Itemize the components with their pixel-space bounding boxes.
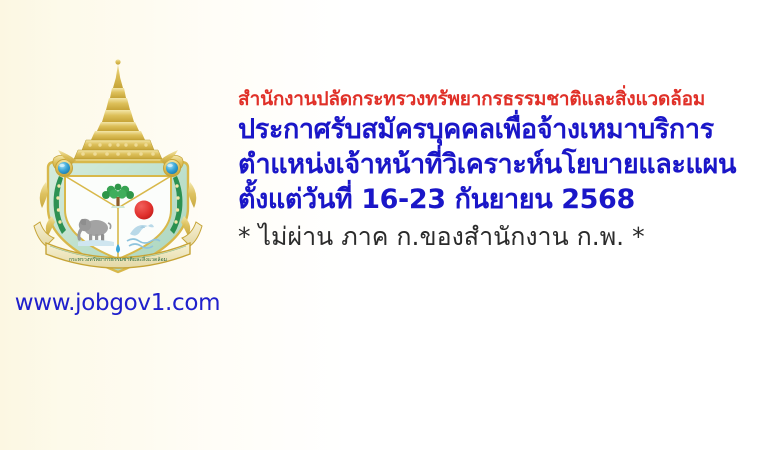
announcement-poster: กระทรวงทรัพยากรธรรมชาติและสิ่งแวดล้อม ww… bbox=[0, 0, 770, 450]
exam-exemption-note: * ไม่ผ่าน ภาค ก.ของสำนักงาน ก.พ. * bbox=[238, 217, 768, 257]
pagoda-spire-icon bbox=[91, 59, 145, 140]
announcement-headline: ประกาศรับสมัครบุคคลเพื่อจ้างเหมาบริการ bbox=[238, 112, 768, 147]
organization-name: สำนักงานปลัดกระทรวงทรัพยากรธรรมชาติและสิ… bbox=[238, 86, 768, 112]
emblem-block: กระทรวงทรัพยากรธรรมชาติและสิ่งแวดล้อม ww… bbox=[0, 58, 235, 328]
announcement-text-block: สำนักงานปลัดกระทรวงทรัพยากรธรรมชาติและสิ… bbox=[238, 86, 768, 257]
application-dates: ตั้งแต่วันที่ 16-23 กันยายน 2568 bbox=[238, 182, 768, 217]
position-title: ตำแหน่งเจ้าหน้าที่วิเคราะห์นโยบายและแผน bbox=[238, 147, 768, 182]
website-url-label[interactable]: www.jobgov1.com bbox=[0, 290, 235, 316]
red-sun-icon bbox=[135, 201, 154, 220]
emblem-banner-text: กระทรวงทรัพยากรธรรมชาติและสิ่งแวดล้อม bbox=[69, 256, 167, 263]
ministry-emblem-icon: กระทรวงทรัพยากรธรรมชาติและสิ่งแวดล้อม bbox=[28, 58, 208, 283]
